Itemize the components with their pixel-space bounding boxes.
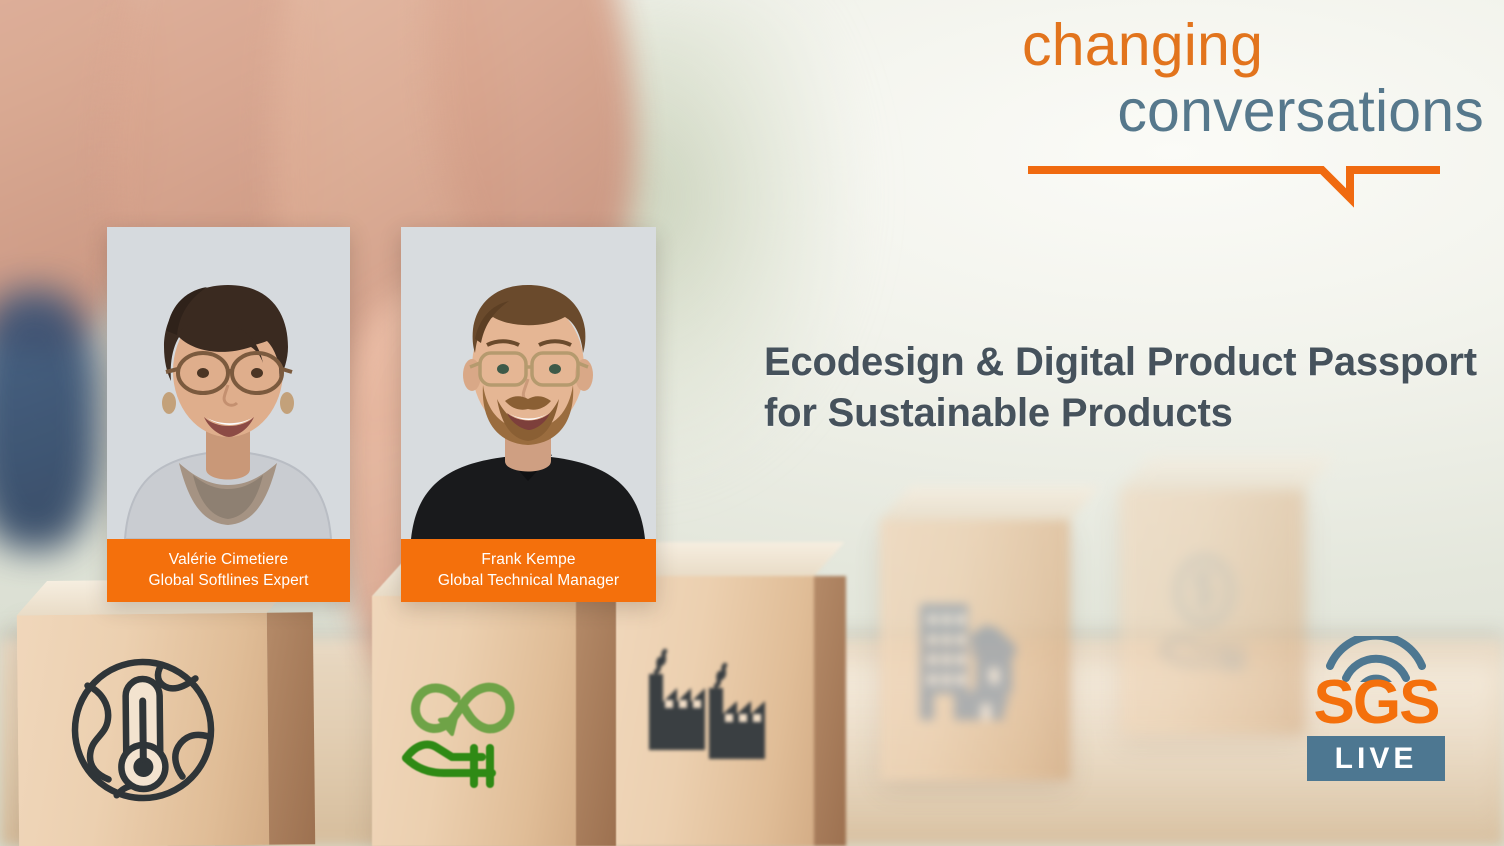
factories-smoke-icon (614, 576, 814, 846)
logo-line-conversations: conversations (1022, 82, 1484, 141)
speaker-name: Frank Kempe (481, 550, 575, 570)
changing-conversations-logo: changing conversations (1022, 16, 1484, 206)
speaker-card[interactable]: Frank Kempe Global Technical Manager (401, 227, 656, 602)
page-title: Ecodesign & Digital Product Passport for… (764, 337, 1484, 439)
wooden-block-global-warming (17, 613, 269, 846)
wooden-block-city-buildings (880, 520, 1070, 780)
wooden-block-hand-coin (1120, 490, 1305, 735)
sleeve (0, 290, 100, 550)
speaker-photo (401, 227, 656, 539)
sgs-live-label: LIVE (1335, 742, 1418, 776)
block-top-face (880, 486, 1101, 520)
circular-economy-hand-icon (372, 596, 576, 846)
presentation-slide: Valérie Cimetiere Global Softlines Exper… (0, 0, 1504, 846)
speaker-name: Valérie Cimetiere (169, 550, 288, 570)
block-side-face (267, 612, 315, 844)
speaker-caption: Frank Kempe Global Technical Manager (401, 539, 656, 602)
sgs-live-bar: LIVE (1307, 736, 1445, 781)
speaker-role: Global Softlines Expert (149, 571, 309, 591)
speaker-role: Global Technical Manager (438, 571, 619, 591)
avatar (401, 227, 656, 539)
block-side-face (576, 596, 616, 846)
avatar (107, 227, 350, 539)
block-side-face (814, 576, 846, 846)
speaker-caption: Valérie Cimetiere Global Softlines Exper… (107, 539, 350, 602)
hand-coin-icon (1120, 490, 1305, 735)
speech-bubble-underline-icon (1028, 164, 1440, 208)
sgs-wordmark: SGS (1296, 672, 1456, 734)
logo-line-changing: changing (1022, 16, 1484, 75)
globe-thermometer-icon (17, 613, 269, 846)
speaker-card[interactable]: Valérie Cimetiere Global Softlines Exper… (107, 227, 350, 602)
wooden-block-factories (614, 576, 814, 846)
speaker-photo (107, 227, 350, 539)
city-buildings-icon (880, 520, 1070, 780)
wooden-block-circular-economy (372, 596, 576, 846)
block-top-face (1120, 456, 1336, 490)
sgs-live-logo: SGS LIVE (1296, 636, 1456, 806)
